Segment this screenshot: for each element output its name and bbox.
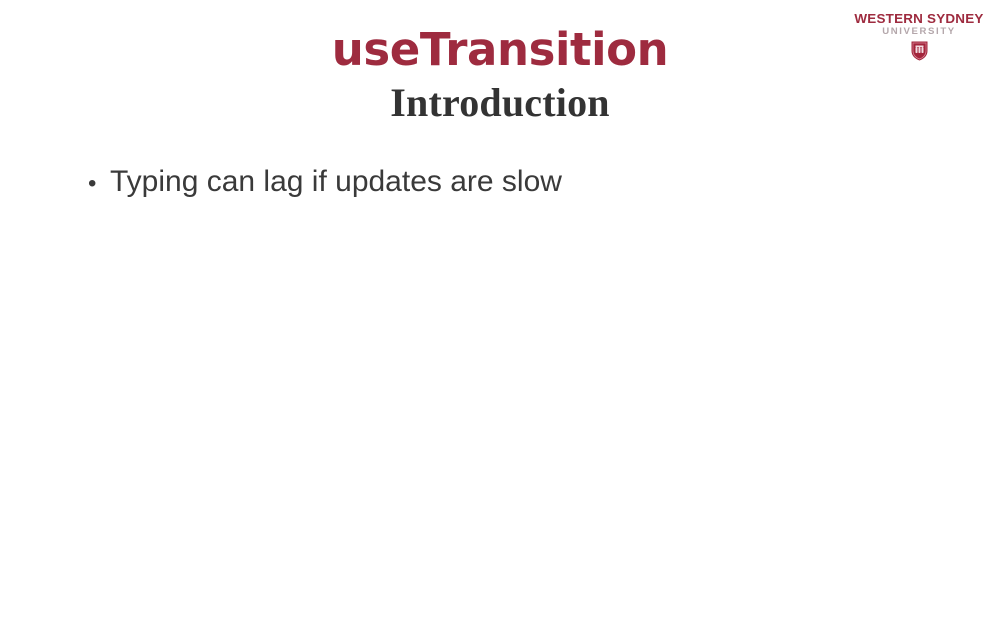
bullet-item-text: Typing can lag if updates are slow	[110, 162, 928, 201]
presentation-slide: WESTERN SYDNEY UNIVERSITY useTransition …	[0, 0, 1000, 624]
slide-body-content: • Typing can lag if updates are slow	[88, 162, 928, 207]
bullet-marker-icon: •	[88, 172, 110, 196]
slide-title: useTransition	[0, 26, 1000, 73]
slide-subtitle: Introduction	[0, 81, 1000, 124]
slide-title-block: useTransition Introduction	[0, 26, 1000, 124]
bullet-item: • Typing can lag if updates are slow	[88, 162, 928, 201]
logo-wordmark-text: WESTERN SYDNEY	[844, 12, 995, 25]
